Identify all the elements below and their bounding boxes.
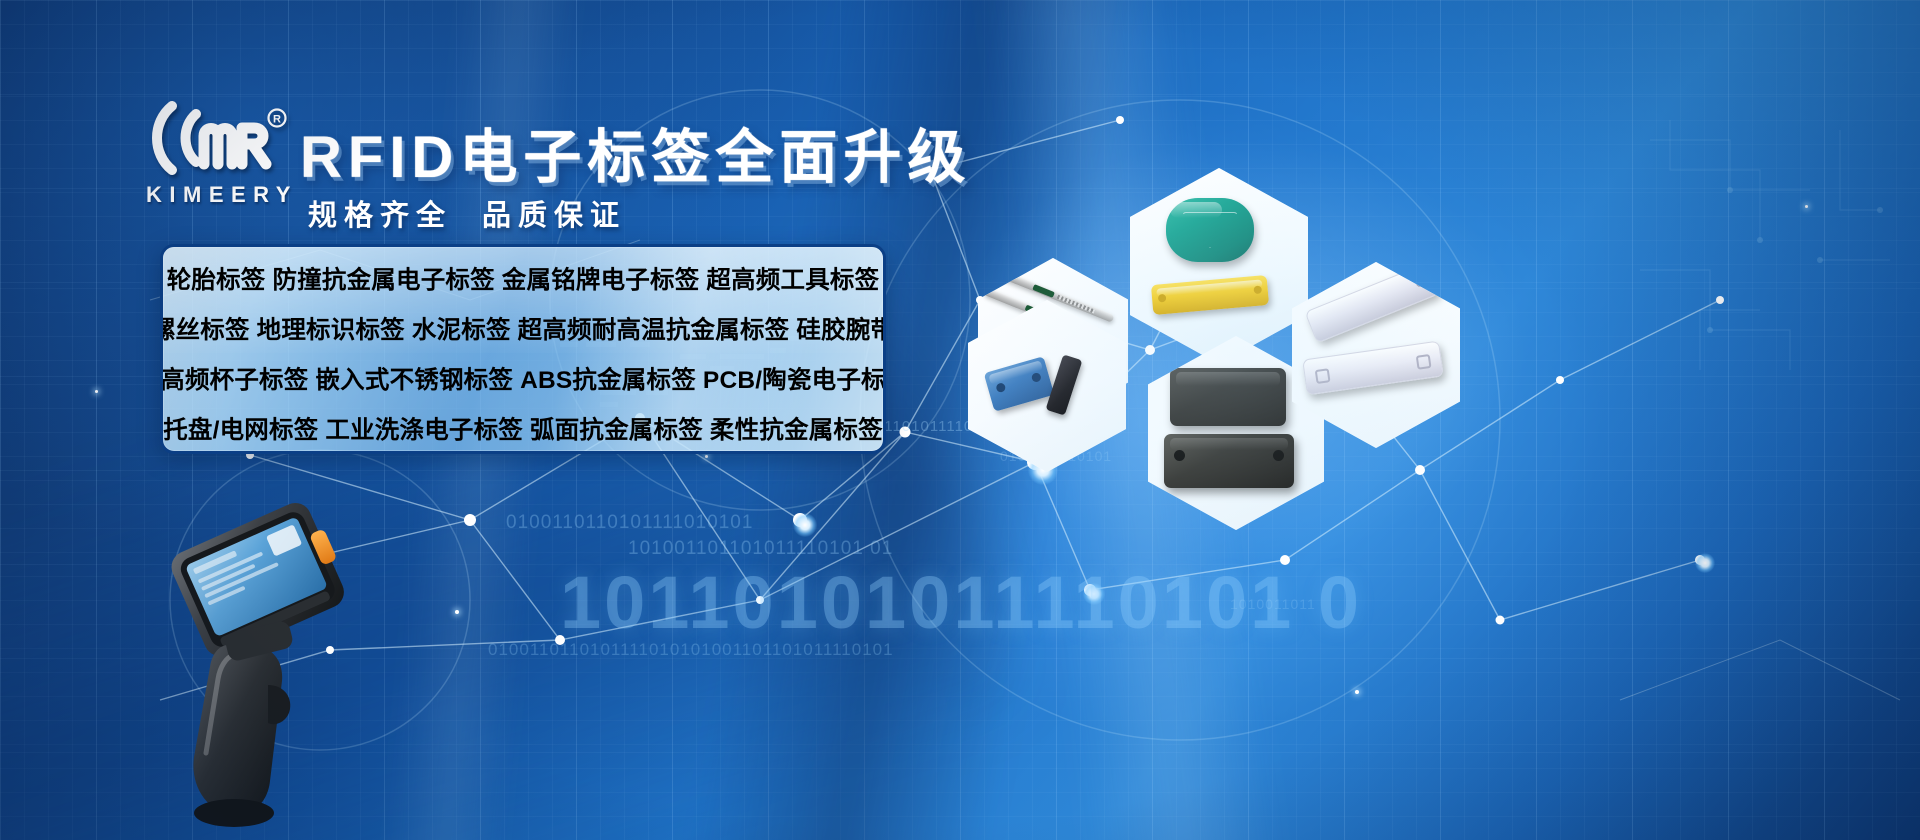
product-list-row: 托盘/电网标签 工业洗涤电子标签 弧面抗金属标签 柔性抗金属标签 xyxy=(163,406,883,454)
circuit-pattern-right xyxy=(1640,120,1900,380)
white-flexible-tag xyxy=(1302,341,1444,396)
spark-particle xyxy=(1355,690,1359,694)
subtitle-left: 规格齐全 xyxy=(308,200,452,232)
product-list-row: 轮胎标签 防撞抗金属电子标签 金属铭牌电子标签 超高频工具标签 xyxy=(163,256,883,306)
black-ceramic-tag xyxy=(1164,434,1294,488)
brand-wordmark: KIMEERY xyxy=(146,182,298,208)
brand-logo: R KIMEERY xyxy=(138,98,298,208)
spark-particle xyxy=(705,455,708,458)
product-category-box: 轮胎标签 防撞抗金属电子标签 金属铭牌电子标签 超高频工具标签 螺丝标签 地理标… xyxy=(160,244,886,454)
yellow-anti-metal-tag xyxy=(1151,275,1269,315)
glow-node-right xyxy=(1695,553,1715,573)
white-flexible-tag xyxy=(1304,263,1439,344)
rfid-promo-banner: 10110101011110101 0 01001101101011110101… xyxy=(0,0,1920,840)
svg-text:R: R xyxy=(273,114,281,126)
subtitle: 规格齐全品质保证 xyxy=(308,192,626,234)
round-green-rfid-tag xyxy=(1166,198,1254,262)
page-title: RFID电子标签全面升级 xyxy=(300,110,971,194)
spark-particle xyxy=(95,390,98,393)
kimeery-wave-r-logo-icon: R xyxy=(138,98,288,176)
spark-particle xyxy=(1805,205,1808,208)
binary-decoration-6: 1010011011 xyxy=(1230,596,1316,612)
glow-node-lower xyxy=(1083,583,1105,605)
black-pcb-tag xyxy=(1170,368,1286,426)
product-list-row: 超高频杯子标签 嵌入式不锈钢标签 ABS抗金属标签 PCB/陶瓷电子标签 xyxy=(163,356,883,406)
subtitle-right: 品质保证 xyxy=(482,200,626,232)
handheld-rfid-reader xyxy=(150,495,380,825)
binary-decoration-large: 10110101011110101 0 xyxy=(560,560,1362,645)
binary-decoration-3: 0100110110101111010101001101101011110101 xyxy=(488,640,894,660)
spark-particle xyxy=(455,610,459,614)
glow-node-left xyxy=(793,513,817,537)
product-list-row: 螺丝标签 地理标识标签 水泥标签 超高频耐高温抗金属标签 硅胶腕带 xyxy=(163,306,883,356)
hex-product-tags-top xyxy=(1130,168,1308,364)
binary-decoration-1: 0100110110101111010101 xyxy=(506,512,753,534)
blue-abs-tag xyxy=(984,356,1055,412)
binary-decoration-2: 101001101101011110101 01 xyxy=(628,538,893,560)
